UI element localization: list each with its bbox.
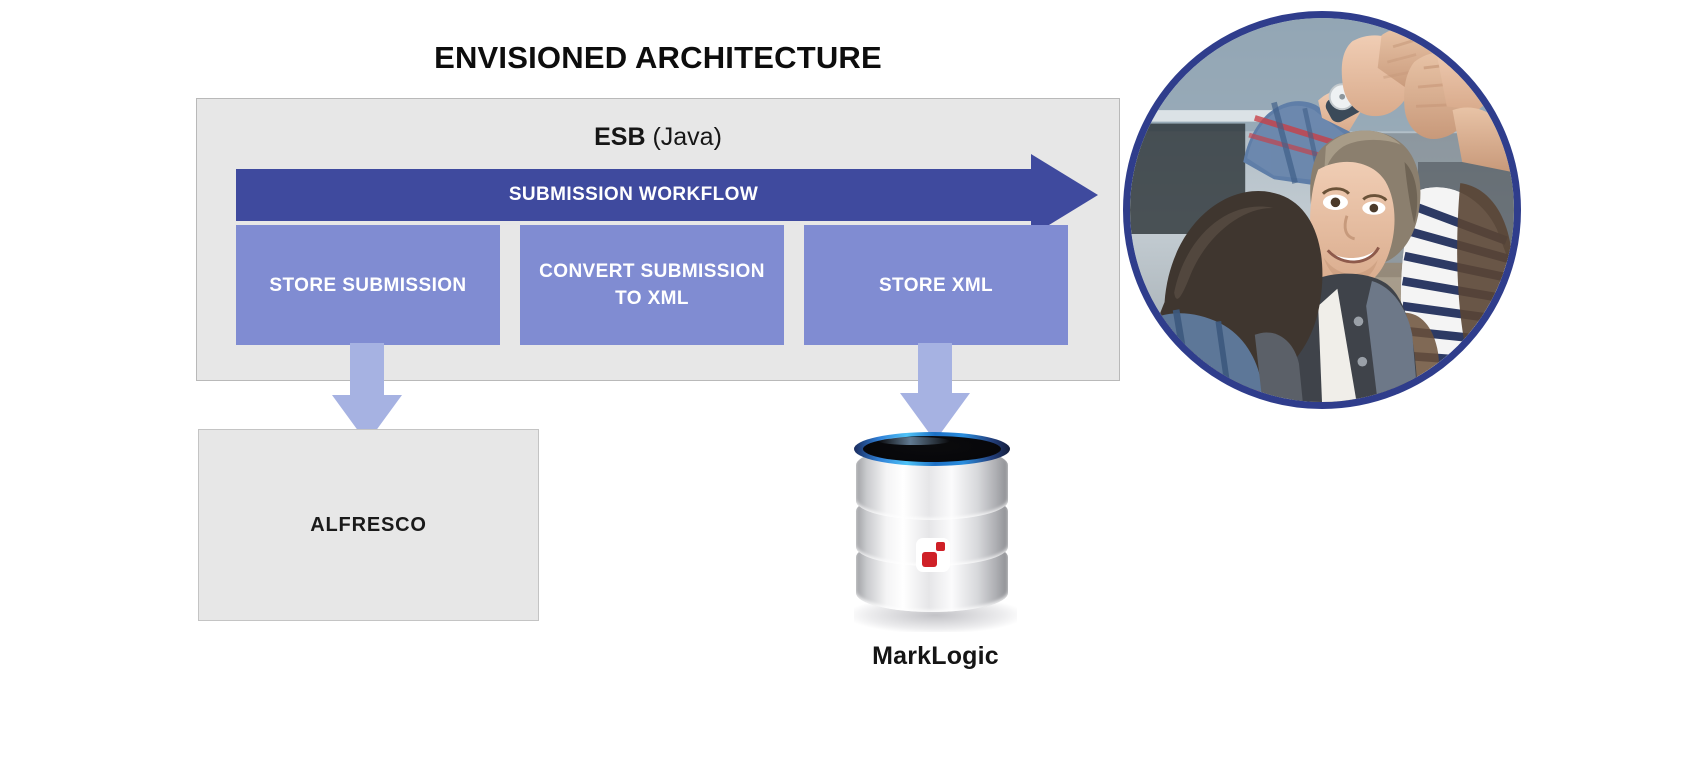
connector-arrow-to-alfresco: [332, 343, 402, 443]
workflow-arrow-head-icon: [1031, 154, 1098, 236]
team-photo: [1123, 11, 1521, 409]
datastore-alfresco[interactable]: ALFRESCO: [198, 429, 539, 621]
arrow-stem: [918, 343, 952, 393]
esb-container: ESB (Java) SUBMISSION WORKFLOW STORE SUB…: [196, 98, 1120, 381]
page-title: ENVISIONED ARCHITECTURE: [196, 38, 1120, 78]
logo-square-large: [922, 552, 937, 567]
process-step-label: STORE XML: [879, 272, 993, 299]
datastore-label: MarkLogic: [848, 642, 1023, 671]
marklogic-logo-icon: [916, 538, 950, 572]
process-step-store-submission[interactable]: STORE SUBMISSION: [236, 225, 500, 345]
page-title-text: ENVISIONED ARCHITECTURE: [434, 40, 882, 75]
database-top-highlight: [878, 437, 950, 445]
arrow-stem: [350, 343, 384, 395]
process-step-label: CONVERT SUBMISSION TO XML: [528, 258, 776, 312]
logo-square-small: [936, 542, 945, 551]
workflow-arrow-label: SUBMISSION WORKFLOW: [236, 169, 1031, 221]
datastore-label: ALFRESCO: [310, 514, 426, 537]
submission-workflow-arrow: SUBMISSION WORKFLOW: [236, 169, 1098, 221]
process-step-store-xml[interactable]: STORE XML: [804, 225, 1068, 345]
esb-label: ESB (Java): [197, 121, 1119, 153]
datastore-marklogic[interactable]: MarkLogic: [848, 420, 1023, 670]
esb-label-rest: (Java): [646, 123, 722, 151]
process-step-convert-submission-to-xml[interactable]: CONVERT SUBMISSION TO XML: [520, 225, 784, 345]
esb-label-strong: ESB: [594, 123, 645, 151]
diagram-canvas: ENVISIONED ARCHITECTURE ESB (Java) SUBMI…: [0, 0, 1686, 767]
process-step-label: STORE SUBMISSION: [269, 272, 466, 299]
